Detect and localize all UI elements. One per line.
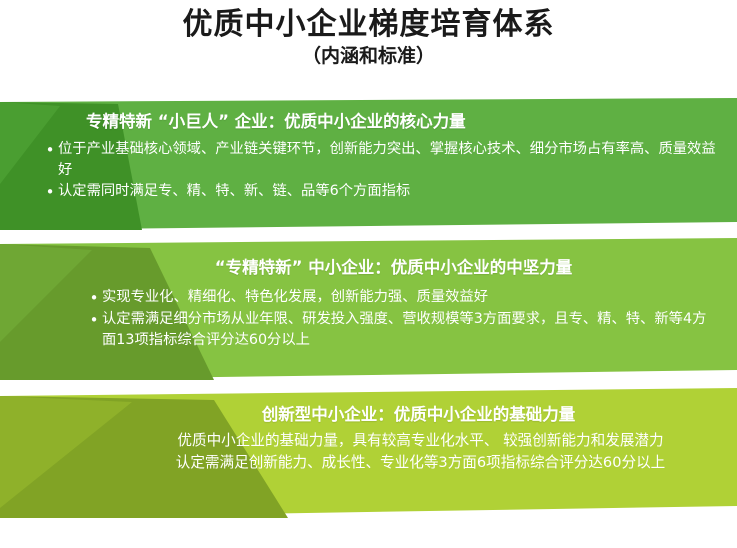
bullet-dot-icon: • <box>42 181 58 203</box>
tier-3-content: 创新型中小企业：优质中小企业的基础力量 优质中小企业的基础力量，具有较高专业化水… <box>0 388 737 474</box>
tier-2-content: “专精特新” 中小企业：优质中小企业的中坚力量 • 实现专业化、精细化、特色化发… <box>0 238 737 351</box>
page-title: 优质中小企业梯度培育体系 <box>0 8 737 42</box>
bullet-text: 实现专业化、精细化、特色化发展，创新能力强、质量效益好 <box>102 287 719 309</box>
tier-1-heading: 专精特新 “小巨人” 企业：优质中小企业的核心力量 <box>0 112 737 132</box>
tier-3-lines: 优质中小企业的基础力量，具有较高专业化水平、 较强创新能力和发展潜力 认定需满足… <box>0 430 737 474</box>
bullet-text: 认定需满足细分市场从业年限、研发投入强度、营收规模等3方面要求，且专、精、特、新… <box>102 309 719 351</box>
bullet-text: 认定需同时满足专、精、特、新、链、品等6个方面指标 <box>58 181 729 203</box>
tier-1-bullets: • 位于产业基础核心领域、产业链关键环节，创新能力突出、掌握核心技术、细分市场占… <box>0 139 737 204</box>
bullet-text: 位于产业基础核心领域、产业链关键环节，创新能力突出、掌握核心技术、细分市场占有率… <box>58 139 729 181</box>
tier-1-content: 专精特新 “小巨人” 企业：优质中小企业的核心力量 • 位于产业基础核心领域、产… <box>0 98 737 203</box>
tier-band-3[interactable]: 创新型中小企业：优质中小企业的基础力量 优质中小企业的基础力量，具有较高专业化水… <box>0 388 737 518</box>
tier-3-heading: 创新型中小企业：优质中小企业的基础力量 <box>0 405 737 425</box>
list-item: • 认定需满足细分市场从业年限、研发投入强度、营收规模等3方面要求，且专、精、特… <box>86 309 719 351</box>
slide-canvas: 优质中小企业梯度培育体系 （内涵和标准） 专精特新 “小巨人” 企业：优质中小企… <box>0 0 737 548</box>
tier-2-heading: “专精特新” 中小企业：优质中小企业的中坚力量 <box>0 258 737 278</box>
bullet-dot-icon: • <box>42 139 58 181</box>
tier-3-line-2: 认定需满足创新能力、成长性、专业化等3方面6项指标综合评分达60分以上 <box>110 452 731 474</box>
bullet-dot-icon: • <box>86 287 102 309</box>
tier-2-bullets: • 实现专业化、精细化、特色化发展，创新能力强、质量效益好 • 认定需满足细分市… <box>0 287 737 352</box>
page-subtitle: （内涵和标准） <box>0 46 737 67</box>
title-block: 优质中小企业梯度培育体系 （内涵和标准） <box>0 8 737 66</box>
list-item: • 位于产业基础核心领域、产业链关键环节，创新能力突出、掌握核心技术、细分市场占… <box>42 139 729 181</box>
bullet-dot-icon: • <box>86 309 102 351</box>
tier-band-2[interactable]: “专精特新” 中小企业：优质中小企业的中坚力量 • 实现专业化、精细化、特色化发… <box>0 238 737 380</box>
list-item: • 认定需同时满足专、精、特、新、链、品等6个方面指标 <box>42 181 729 203</box>
tier-3-line-1: 优质中小企业的基础力量，具有较高专业化水平、 较强创新能力和发展潜力 <box>110 430 731 452</box>
tier-band-1[interactable]: 专精特新 “小巨人” 企业：优质中小企业的核心力量 • 位于产业基础核心领域、产… <box>0 98 737 230</box>
list-item: • 实现专业化、精细化、特色化发展，创新能力强、质量效益好 <box>86 287 719 309</box>
